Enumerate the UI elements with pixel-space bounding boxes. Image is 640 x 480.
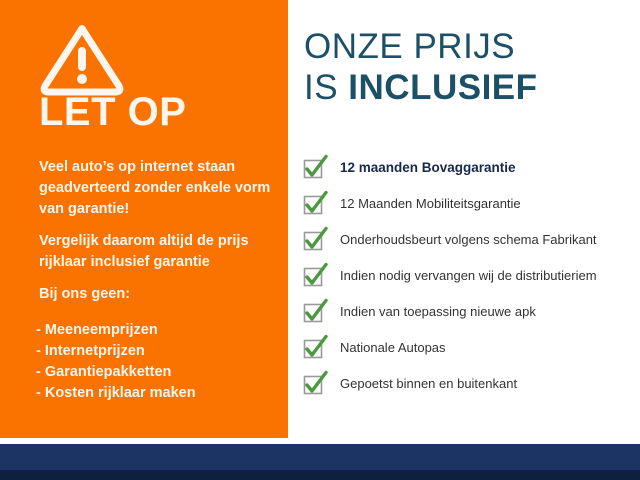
price-heading-line2: IS INCLUSIEF	[304, 67, 538, 108]
feature-item: Nationale Autopas	[302, 330, 638, 366]
feature-item: Onderhoudsbeurt volgens schema Fabrikant	[302, 222, 638, 258]
promo-banner: LET OP Veel auto’s op internet staan gea…	[0, 0, 640, 480]
feature-label: 12 maanden Bovaggarantie	[340, 160, 516, 176]
feature-label: Nationale Autopas	[340, 340, 446, 356]
checked-checkbox-icon	[302, 263, 328, 289]
checked-checkbox-icon	[302, 227, 328, 253]
feature-label: Onderhoudsbeurt volgens schema Fabrikant	[340, 232, 597, 248]
bij-ons-geen-label: Bij ons geen:	[39, 284, 274, 305]
feature-item: Indien van toepassing nieuwe apk	[302, 294, 638, 330]
feature-item: Gepoetst binnen en buitenkant	[302, 366, 638, 402]
exclusion-item: - Garantiepakketten	[36, 362, 276, 383]
checked-checkbox-icon	[302, 299, 328, 325]
exclusion-item: - Kosten rijklaar maken	[36, 383, 276, 404]
checked-checkbox-icon	[302, 335, 328, 361]
price-heading-line1: ONZE PRIJS	[304, 27, 515, 66]
features-list: 12 maanden Bovaggarantie 12 Maanden Mobi…	[302, 150, 638, 402]
feature-label: Indien nodig vervangen wij de distributi…	[340, 268, 597, 284]
price-heading-is: IS	[304, 68, 348, 107]
exclusion-item: - Internetprijzen	[36, 341, 276, 362]
feature-item: 12 maanden Bovaggarantie	[302, 150, 638, 186]
bottom-navy-bar	[0, 444, 640, 470]
feature-label: Indien van toepassing nieuwe apk	[340, 304, 536, 320]
warning-triangle-icon	[40, 22, 124, 96]
warning-panel: LET OP Veel auto’s op internet staan gea…	[0, 0, 288, 438]
feature-label: Gepoetst binnen en buitenkant	[340, 376, 517, 392]
warning-paragraph: Veel auto’s op internet staan geadvertee…	[39, 157, 274, 220]
exclusions-list: - Meeneemprijzen - Internetprijzen - Gar…	[36, 320, 276, 404]
feature-item: 12 Maanden Mobiliteitsgarantie	[302, 186, 638, 222]
inclusive-price-panel: ONZE PRIJS IS INCLUSIEF 12 maanden Bovag…	[288, 0, 640, 438]
checked-checkbox-icon	[302, 155, 328, 181]
feature-label: 12 Maanden Mobiliteitsgarantie	[340, 196, 521, 212]
compare-paragraph: Vergelijk daarom altijd de prijs rijklaa…	[39, 231, 274, 273]
checked-checkbox-icon	[302, 371, 328, 397]
feature-item: Indien nodig vervangen wij de distributi…	[302, 258, 638, 294]
price-heading: ONZE PRIJS IS INCLUSIEF	[304, 26, 538, 108]
let-op-title: LET OP	[39, 90, 186, 134]
price-heading-inclusief: INCLUSIEF	[348, 68, 537, 107]
bottom-navy-bar-shadow	[0, 470, 640, 480]
checked-checkbox-icon	[302, 191, 328, 217]
exclusion-item: - Meeneemprijzen	[36, 320, 276, 341]
